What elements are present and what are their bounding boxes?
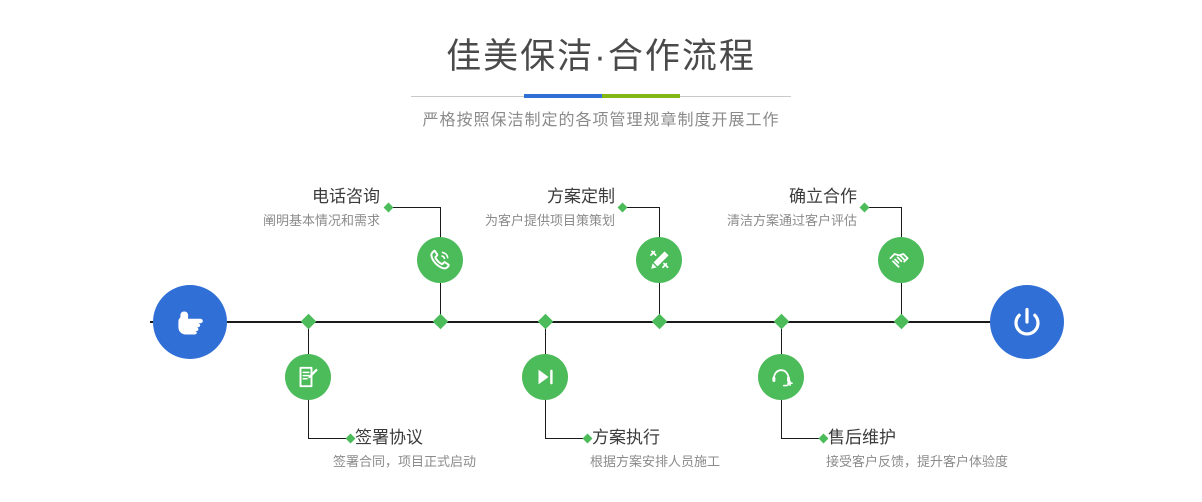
cooperation-process-infographic: 佳美保洁·合作流程 严格按照保洁制定的各项管理规章制度开展工作 bbox=[0, 0, 1202, 502]
timeline-node-step-4 bbox=[538, 314, 554, 330]
step-desc-3: 为客户提供项目策策划 bbox=[440, 211, 615, 231]
timeline-start-endpoint bbox=[153, 285, 227, 359]
divider-segment-green bbox=[602, 94, 680, 98]
handshake-icon bbox=[887, 246, 915, 274]
pointing-hand-icon bbox=[170, 302, 210, 342]
pen-ruler-design-icon bbox=[646, 247, 673, 274]
timeline-node-step-3 bbox=[652, 314, 668, 330]
connector-dot-step-1 bbox=[384, 203, 394, 213]
connector-dot-step-2 bbox=[346, 434, 356, 444]
connector-horizontal-step-1 bbox=[388, 207, 440, 208]
step-desc-2: 签署合同，项目正式启动 bbox=[333, 452, 585, 472]
connector-horizontal-step-2 bbox=[308, 438, 350, 439]
step-desc-4: 根据方案安排人员施工 bbox=[590, 452, 822, 472]
headset-support-add-icon bbox=[768, 364, 794, 390]
phone-call-icon bbox=[426, 246, 454, 274]
connector-dot-step-5 bbox=[860, 203, 870, 213]
step-title-5: 确立合作 bbox=[680, 186, 857, 208]
step-label-3: 方案定制 为客户提供项目策策划 bbox=[440, 186, 615, 231]
step-title-1: 电话咨询 bbox=[210, 186, 380, 208]
step-desc-1: 阐明基本情况和需求 bbox=[210, 211, 380, 231]
step-label-2: 签署协议 签署合同，项目正式启动 bbox=[355, 427, 585, 472]
step-icon-1 bbox=[417, 237, 463, 283]
timeline-node-step-1 bbox=[433, 314, 449, 330]
header: 佳美保洁·合作流程 严格按照保洁制定的各项管理规章制度开展工作 bbox=[0, 34, 1202, 132]
step-desc-5: 清洁方案通过客户评估 bbox=[680, 211, 857, 231]
timeline-axis bbox=[150, 321, 1052, 323]
step-desc-6: 接受客户反馈，提升客户体验度 bbox=[826, 452, 1078, 472]
step-icon-5 bbox=[878, 237, 924, 283]
connector-dot-step-3 bbox=[618, 203, 628, 213]
step-icon-2 bbox=[285, 354, 331, 400]
timeline-end-endpoint bbox=[990, 285, 1064, 359]
play-execute-icon bbox=[532, 364, 558, 390]
step-icon-4 bbox=[522, 354, 568, 400]
timeline-node-step-2 bbox=[301, 314, 317, 330]
step-icon-3 bbox=[636, 237, 682, 283]
step-label-6: 售后维护 接受客户反馈，提升客户体验度 bbox=[828, 427, 1078, 472]
document-sign-icon bbox=[295, 364, 321, 390]
step-icon-6 bbox=[758, 354, 804, 400]
step-title-3: 方案定制 bbox=[440, 186, 615, 208]
step-label-1: 电话咨询 阐明基本情况和需求 bbox=[210, 186, 380, 231]
title-divider bbox=[411, 94, 791, 98]
step-label-5: 确立合作 清洁方案通过客户评估 bbox=[680, 186, 857, 231]
step-title-4: 方案执行 bbox=[592, 427, 822, 449]
timeline-node-step-6 bbox=[774, 314, 790, 330]
step-title-2: 签署协议 bbox=[355, 427, 585, 449]
step-label-4: 方案执行 根据方案安排人员施工 bbox=[592, 427, 822, 472]
page-subtitle: 严格按照保洁制定的各项管理规章制度开展工作 bbox=[0, 110, 1202, 132]
page-title: 佳美保洁·合作流程 bbox=[0, 34, 1202, 80]
power-button-icon bbox=[1007, 302, 1047, 342]
step-title-6: 售后维护 bbox=[828, 427, 1078, 449]
timeline-node-step-5 bbox=[894, 314, 910, 330]
divider-segment-blue bbox=[524, 94, 602, 98]
